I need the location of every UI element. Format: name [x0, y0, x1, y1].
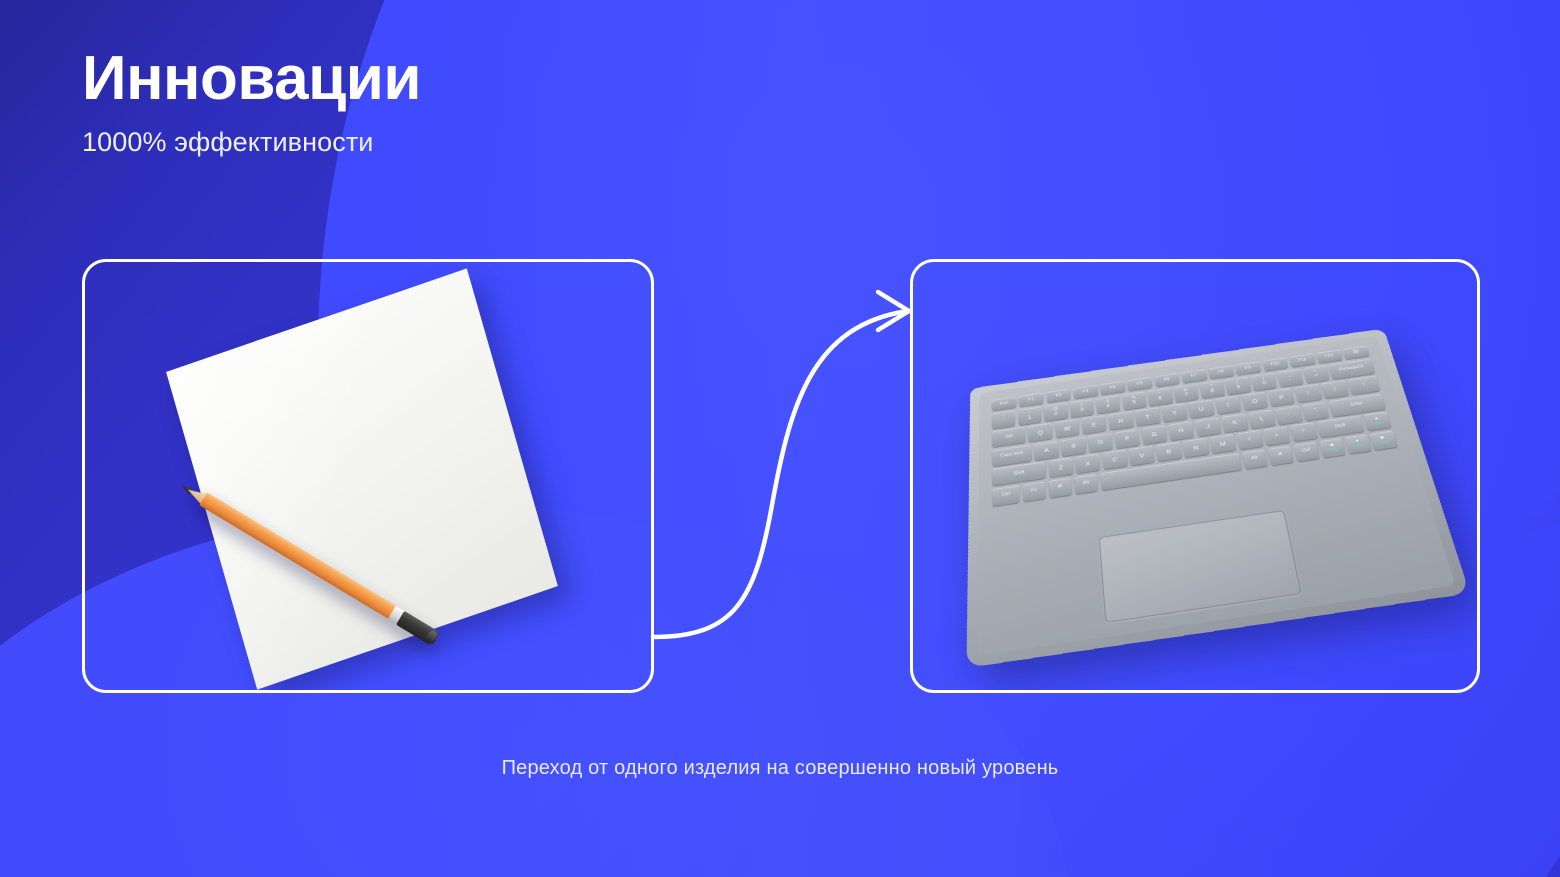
keyboard-key-key: ▶End	[1370, 430, 1397, 450]
keyboard-key-alt: Alt	[1074, 473, 1098, 493]
paper-sheet-illustration	[166, 268, 558, 689]
slide-root: Инновации 1000% эффективности EscF1F2F3F…	[0, 0, 1560, 877]
keyboard-deck: EscF1F2F3F4F5F6F7F8F9F10F11F12⌧~`!1@2#3$…	[978, 336, 1455, 656]
keyboard-key-g: G	[1142, 425, 1168, 444]
keyboard-key-key: ⌧	[1343, 346, 1370, 360]
keyboard-key-8: *8	[1199, 380, 1224, 398]
keyboard-key-5: %5	[1122, 391, 1147, 409]
keyboard-key-6: ^6	[1148, 387, 1173, 405]
keyboard-key-d: D	[1088, 433, 1113, 453]
header: Инновации 1000% эффективности	[82, 46, 421, 158]
keyboard-key-0: )0	[1251, 372, 1277, 390]
keyboard-key-grid: EscF1F2F3F4F5F6F7F8F9F10F11F12⌧~`!1@2#3$…	[992, 346, 1397, 506]
keyboard-key-key: ▲PgUp	[1363, 411, 1391, 430]
page-title: Инновации	[82, 46, 421, 111]
keyboard-key-key: ▼PgDn	[1345, 434, 1372, 454]
keyboard-key-key: ~`	[992, 410, 1015, 429]
card-keyboard[interactable]: EscF1F2F3F4F5F6F7F8F9F10F11F12⌧~`!1@2#3$…	[910, 259, 1480, 693]
keyboard-key-key: +=	[1303, 365, 1330, 383]
keyboard-key-w: W	[1055, 419, 1080, 438]
keyboard-key-v: V	[1129, 446, 1155, 466]
keyboard-key-7: &7	[1174, 384, 1199, 402]
keyboard-key-k: K	[1222, 413, 1249, 432]
keyboard-key-caps-lock: Caps lock	[992, 444, 1031, 466]
keyboard-key-m: M	[1210, 434, 1237, 454]
keyboard-key-f10: F10	[1262, 357, 1288, 371]
keyboard-key-alt: Alt	[1242, 449, 1268, 469]
page-subtitle: 1000% эффективности	[82, 127, 421, 158]
keyboard-key-p: P	[1268, 388, 1295, 407]
keyboard-key-f11: F11	[1289, 353, 1315, 367]
keyboard-key-i: I	[1215, 396, 1241, 415]
keyboard-key-e: E	[1082, 415, 1107, 434]
keyboard-key-z: Z	[1049, 457, 1074, 477]
keyboard-key-s: S	[1061, 437, 1086, 457]
keyboard-key-key: >	[1263, 426, 1290, 446]
keyboard-key-f5: F5	[1127, 377, 1152, 391]
card-paper-pencil[interactable]	[82, 259, 654, 693]
keyboard-key-key: :	[1275, 405, 1302, 424]
keyboard-key-f1: F1	[1019, 393, 1043, 407]
keyboard-illustration: EscF1F2F3F4F5F6F7F8F9F10F11F12⌧~`!1@2#3$…	[941, 281, 1450, 670]
keyboard-key-y: Y	[1162, 403, 1188, 422]
keyboard-key-ctrl: Ctrl	[1293, 441, 1319, 461]
keyboard-key-f8: F8	[1208, 365, 1234, 379]
keyboard-key-fn: Fn	[1023, 481, 1046, 501]
keyboard-key-key: <	[1236, 430, 1263, 450]
keyboard-key-ctrl: Ctrl	[992, 485, 1019, 506]
keyboard-key-l: L	[1249, 409, 1276, 428]
keyboard-key-f: F	[1115, 429, 1140, 449]
keyboard-key-key: }	[1321, 380, 1349, 399]
keyboard-key-key: ⌘	[1048, 477, 1071, 497]
keyboard-key-key: _-	[1277, 369, 1303, 387]
keyboard-key-t: T	[1135, 407, 1160, 426]
keyboard-key-3: #3	[1070, 399, 1094, 418]
keyboard-key-n: N	[1183, 438, 1209, 458]
keyboard-key-f12: F12	[1316, 350, 1343, 364]
arrowhead-icon	[878, 292, 909, 330]
keyboard-key-f4: F4	[1100, 381, 1125, 395]
keyboard-key-f6: F6	[1154, 373, 1179, 387]
keyboard-key-x: X	[1076, 453, 1101, 473]
keyboard-key-tab: Tab	[992, 427, 1025, 448]
keyboard-key-a: A	[1034, 440, 1058, 460]
keyboard-key-1: !1	[1018, 406, 1041, 425]
keyboard-key-f3: F3	[1073, 385, 1098, 399]
keyboard-key-key: "	[1302, 401, 1330, 420]
keyboard-key-r: R	[1108, 411, 1133, 430]
keyboard-key-f7: F7	[1181, 369, 1207, 383]
keyboard-key-o: O	[1242, 392, 1269, 411]
keyboard-key-b: B	[1156, 442, 1182, 462]
keyboard-trackpad	[1099, 510, 1302, 623]
keyboard-key-c: C	[1102, 450, 1127, 470]
keyboard-key-key: \	[1348, 376, 1381, 395]
keyboard-key-key: {	[1295, 384, 1322, 403]
card-right-inner: EscF1F2F3F4F5F6F7F8F9F10F11F12⌧~`!1@2#3$…	[913, 262, 1477, 690]
slide-caption: Переход от одного изделия на совершенно …	[0, 757, 1560, 780]
card-left-inner	[85, 262, 651, 690]
keyboard-key-f9: F9	[1235, 361, 1261, 375]
keyboard-key-h: H	[1168, 421, 1194, 440]
keyboard-key-9: (9	[1225, 376, 1251, 394]
keyboard-key-key: ?	[1290, 422, 1317, 442]
keyboard-key-j: J	[1195, 417, 1221, 436]
connector-curve-path	[653, 311, 908, 637]
keyboard-key-u: U	[1188, 399, 1214, 418]
keyboard-key-4: $4	[1096, 395, 1120, 414]
keyboard-key-2: @2	[1044, 403, 1068, 422]
keyboard-key-f2: F2	[1046, 389, 1071, 403]
keyboard-key-esc: Esc	[992, 397, 1016, 411]
keyboard-key-key: ◀Home	[1319, 438, 1346, 458]
keyboard-key-key: ⌘	[1268, 445, 1294, 465]
keyboard-key-q: Q	[1028, 423, 1052, 442]
